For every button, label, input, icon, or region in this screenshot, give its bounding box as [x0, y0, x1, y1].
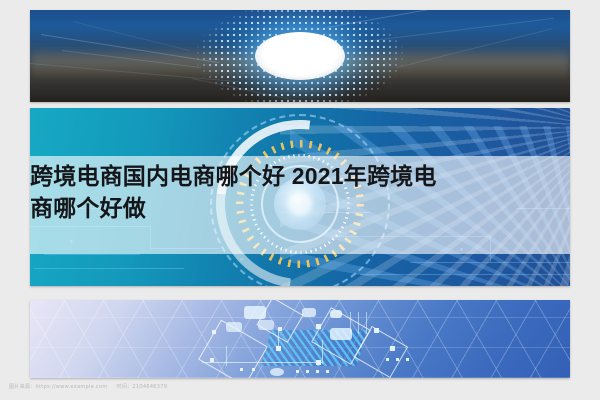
circuit-nodes	[30, 300, 570, 378]
banner-bottom	[30, 300, 570, 378]
page-root: 跨境电商国内电商哪个好 2021年跨境电商哪个好做	[0, 0, 600, 400]
glow-ellipse	[255, 32, 345, 80]
banner-top	[30, 10, 570, 102]
title-line-2: 商哪个好做	[30, 195, 146, 221]
title-line-1: 跨境电商国内电商哪个好 2021年跨境电	[30, 163, 437, 189]
watermark-time: 时间：2104646379	[117, 384, 168, 390]
watermark-credit: 图片来源：https://www.example.com时间：210464637…	[9, 384, 176, 391]
watermark-source: 图片来源：https://www.example.com	[9, 384, 108, 390]
page-title: 跨境电商国内电商哪个好 2021年跨境电商哪个好做	[30, 160, 590, 224]
